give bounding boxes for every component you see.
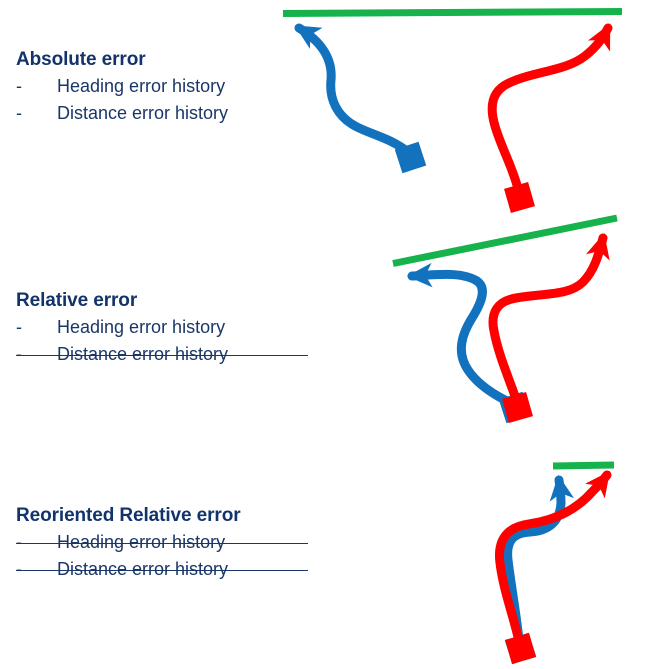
blue-trajectory-reoriented <box>508 480 561 640</box>
green-reference-line-relative <box>393 218 617 264</box>
strikethrough-line <box>16 570 308 572</box>
error-group-absolute: Absolute error - Heading error history -… <box>16 47 316 127</box>
bullet-label: Heading error history <box>57 73 225 100</box>
diagram-absolute <box>283 12 622 213</box>
red-trajectory-absolute <box>492 28 608 189</box>
red-trajectory-relative <box>493 238 603 399</box>
bullet-marker: - <box>16 73 57 100</box>
bullet-reoriented-heading: - Heading error history <box>16 529 316 556</box>
diagram-reoriented <box>499 465 614 664</box>
strikethrough-line <box>16 355 308 357</box>
bullet-marker: - <box>16 100 57 127</box>
group-title-reoriented: Reoriented Relative error <box>16 503 316 529</box>
error-group-reoriented: Reoriented Relative error - Heading erro… <box>16 503 316 583</box>
bullet-absolute-heading: - Heading error history <box>16 73 316 100</box>
error-group-relative: Relative error - Heading error history -… <box>16 288 316 368</box>
blue-trajectory-relative <box>412 274 511 403</box>
bullet-reoriented-distance: - Distance error history <box>16 556 316 583</box>
bullet-label: Heading error history <box>57 314 225 341</box>
bullet-label: Distance error history <box>57 100 228 127</box>
blue-start-marker-absolute <box>395 142 427 174</box>
bullet-absolute-distance: - Distance error history <box>16 100 316 127</box>
green-reference-line-absolute <box>283 12 622 14</box>
bullet-relative-heading: - Heading error history <box>16 314 316 341</box>
strikethrough-line <box>16 543 308 545</box>
bullet-relative-distance: - Distance error history <box>16 341 316 368</box>
red-start-marker-absolute <box>504 182 535 213</box>
bullet-marker: - <box>16 314 57 341</box>
green-reference-line-reoriented <box>553 465 614 466</box>
diagram-relative <box>393 218 617 423</box>
red-trajectory-reoriented <box>499 475 607 637</box>
red-start-marker-relative <box>502 392 533 423</box>
group-title-absolute: Absolute error <box>16 47 316 73</box>
slide-canvas: Absolute error - Heading error history -… <box>0 0 652 669</box>
blue-start-marker-relative <box>499 392 531 424</box>
red-start-marker-reoriented <box>505 633 536 664</box>
group-title-relative: Relative error <box>16 288 316 314</box>
blue-start-marker-reoriented <box>505 633 537 665</box>
